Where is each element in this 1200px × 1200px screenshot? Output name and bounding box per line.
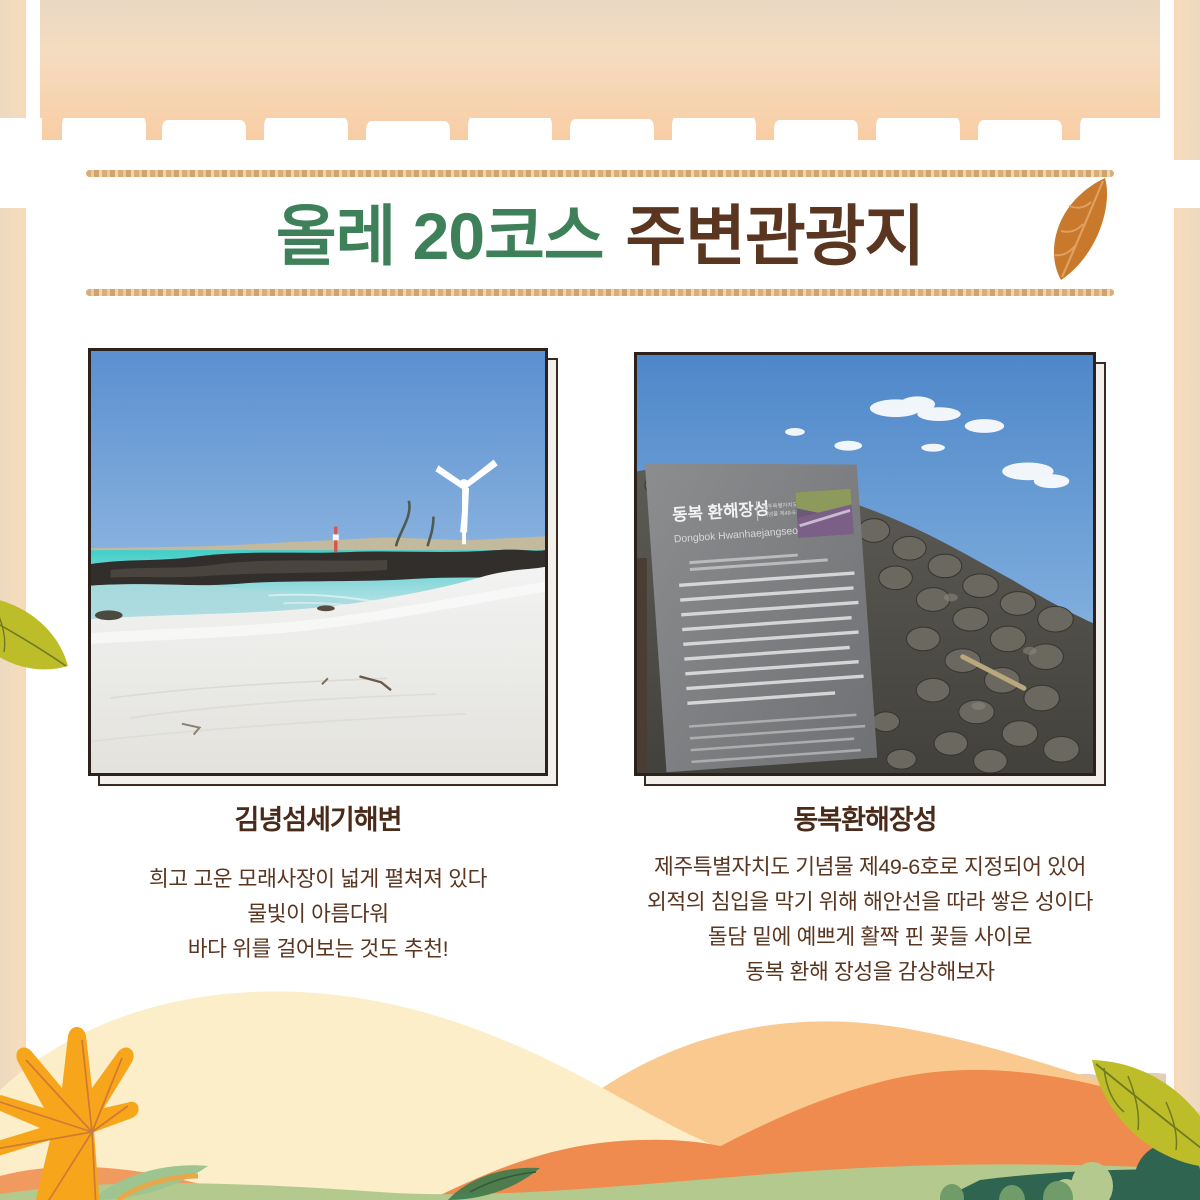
maple-leaf-icon xyxy=(0,1022,182,1200)
fortress-desc-line-3: 돌담 밑에 예쁘게 활짝 핀 꽃들 사이로 xyxy=(600,920,1140,955)
leaf-icon xyxy=(1084,1046,1200,1196)
fortress-title: 동복환해장성 xyxy=(634,798,1096,837)
fortress-photo[interactable]: 동복 환해장성 제주특별자치도 기념물 제49-6호 Dongbok Hwanh… xyxy=(634,352,1096,776)
divider-top xyxy=(86,170,1114,177)
beach-photo[interactable] xyxy=(88,348,548,776)
beach-title: 김녕섬세기해변 xyxy=(88,798,548,837)
title-attractions-label: 주변관광지 xyxy=(626,203,925,269)
leaf-icon xyxy=(0,578,84,698)
beach-desc-line-3: 바다 위를 걸어보는 것도 추천! xyxy=(48,932,588,967)
beach-desc-line-1: 희고 고운 모래사장이 넓게 펼쳐져 있다 xyxy=(48,862,588,897)
divider-bottom xyxy=(86,289,1114,296)
fortress-desc-line-2: 외적의 침입을 막기 위해 해안선을 따라 쌓은 성이다 xyxy=(600,885,1140,920)
leaf-icon xyxy=(1035,172,1117,287)
page-title: 올레 20코스 주변관광지 xyxy=(0,186,1200,286)
beach-description: 희고 고운 모래사장이 넓게 펼쳐져 있다 물빛이 아름다워 바다 위를 걸어보… xyxy=(48,862,588,967)
beach-desc-line-2: 물빛이 아름다워 xyxy=(48,897,588,932)
poster-root: 올레 20코스 주변관광지 xyxy=(0,0,1200,1200)
title-course-label: 올레 20코스 xyxy=(276,203,604,269)
fortress-desc-line-1: 제주특별자치도 기념물 제49-6호로 지정되어 있어 xyxy=(600,850,1140,885)
